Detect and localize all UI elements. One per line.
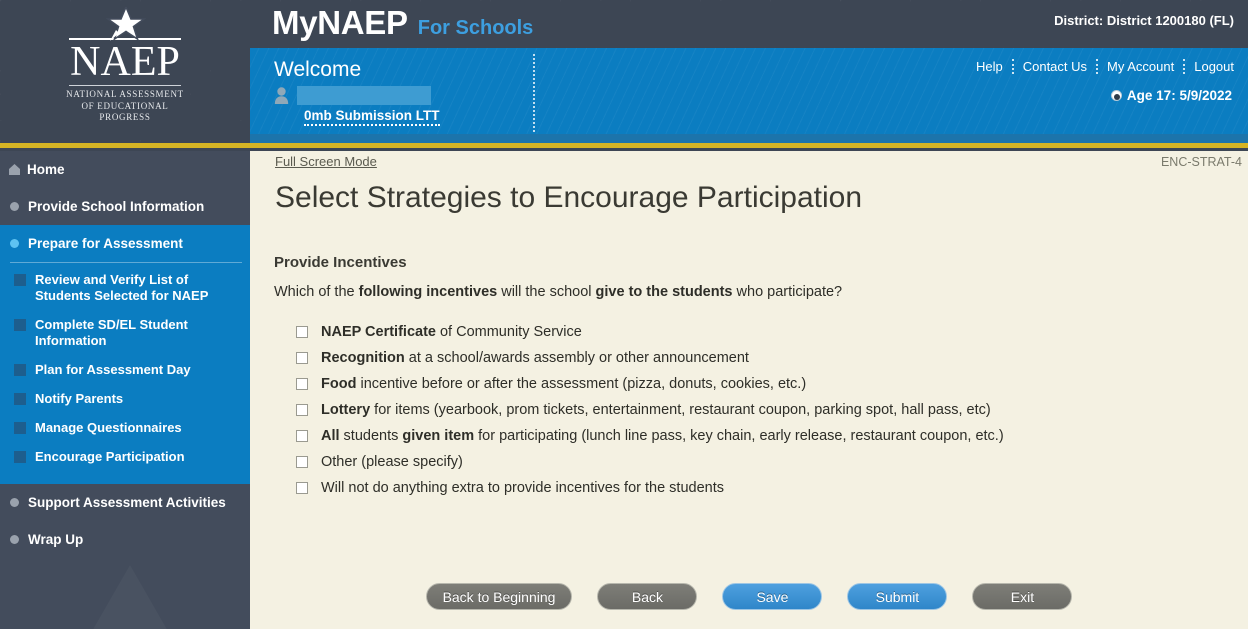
submit-button[interactable]: Submit bbox=[847, 583, 947, 610]
sidebar-item-label: Support Assessment Activities bbox=[28, 495, 226, 510]
nav-help[interactable]: Help bbox=[976, 59, 1012, 74]
square-bullet-icon bbox=[14, 422, 26, 434]
incentive-options-list: NAEP Certificate of Community Service Re… bbox=[296, 321, 1004, 503]
square-bullet-icon bbox=[14, 274, 26, 286]
option-checkbox[interactable] bbox=[296, 430, 308, 442]
sidebar-item-support-assessment-activities[interactable]: Support Assessment Activities bbox=[0, 484, 250, 521]
exit-button[interactable]: Exit bbox=[972, 583, 1072, 610]
question-text: Which of the following incentives will t… bbox=[274, 284, 842, 300]
sidebar-subitem-label: Encourage Participation bbox=[35, 449, 185, 465]
logo-wordmark: NAEP bbox=[70, 40, 180, 84]
option-food[interactable]: Food incentive before or after the asses… bbox=[296, 373, 1004, 399]
subnav-divider bbox=[10, 262, 242, 263]
sidebar-item-provide-school-information[interactable]: Provide School Information bbox=[0, 188, 250, 225]
naep-logo: NAEP NATIONAL ASSESSMENT OF EDUCATIONAL … bbox=[0, 0, 250, 143]
option-checkbox[interactable] bbox=[296, 352, 308, 364]
logo-subtitle-line1: NATIONAL ASSESSMENT bbox=[66, 89, 184, 101]
form-action-buttons: Back to Beginning Back Save Submit Exit bbox=[250, 583, 1248, 610]
home-icon bbox=[8, 163, 21, 176]
main-content: Full Screen Mode ENC-STRAT-4 Select Stra… bbox=[250, 151, 1248, 629]
question-part-3: who participate? bbox=[733, 284, 843, 300]
option-will-not-do-anything[interactable]: Will not do anything extra to provide in… bbox=[296, 477, 1004, 503]
option-checkbox[interactable] bbox=[296, 456, 308, 468]
option-label: Will not do anything extra to provide in… bbox=[321, 477, 724, 499]
sidebar-subitem-label: Plan for Assessment Day bbox=[35, 362, 191, 378]
sidebar-item-prepare-for-assessment[interactable]: Prepare for Assessment bbox=[0, 225, 250, 262]
sidebar-item-label: Home bbox=[27, 162, 65, 177]
option-rest-text: incentive before or after the assessment… bbox=[356, 376, 806, 392]
square-bullet-icon bbox=[14, 451, 26, 463]
sidebar-subnav: Review and Verify List of Students Selec… bbox=[0, 262, 250, 484]
option-checkbox[interactable] bbox=[296, 326, 308, 338]
sidebar-item-label: Prepare for Assessment bbox=[28, 236, 183, 251]
brand-title: MyNAEP For Schools bbox=[272, 4, 533, 42]
option-rest-text: of Community Service bbox=[436, 324, 582, 340]
logo-subtitle: NATIONAL ASSESSMENT OF EDUCATIONAL PROGR… bbox=[66, 89, 184, 124]
option-bold-text: Recognition bbox=[321, 350, 405, 366]
district-label: District: District 1200180 (FL) bbox=[1054, 13, 1234, 28]
option-label: NAEP Certificate of Community Service bbox=[321, 321, 582, 343]
option-mid-text: students bbox=[340, 428, 403, 444]
sidebar-item-home[interactable]: Home bbox=[0, 151, 250, 188]
sidebar-subitem-label: Review and Verify List of Students Selec… bbox=[35, 272, 236, 304]
option-rest-text: Other (please specify) bbox=[321, 454, 463, 470]
option-checkbox[interactable] bbox=[296, 404, 308, 416]
welcome-bar: Welcome 0mb Submission LTT Help Contact … bbox=[250, 48, 1248, 143]
logo-subtitle-line2: OF EDUCATIONAL bbox=[66, 101, 184, 113]
section-heading: Provide Incentives bbox=[274, 254, 407, 271]
age-selector-label: Age 17: 5/9/2022 bbox=[1127, 88, 1232, 103]
option-rest-text: for items (yearbook, prom tickets, enter… bbox=[370, 402, 991, 418]
option-checkbox[interactable] bbox=[296, 482, 308, 494]
full-screen-mode-link[interactable]: Full Screen Mode bbox=[275, 154, 377, 169]
option-label: Food incentive before or after the asses… bbox=[321, 373, 806, 395]
page-root: NAEP NATIONAL ASSESSMENT OF EDUCATIONAL … bbox=[0, 0, 1248, 629]
nav-my-account[interactable]: My Account bbox=[1098, 59, 1183, 74]
square-bullet-icon bbox=[14, 364, 26, 376]
user-row bbox=[274, 86, 431, 105]
bullet-icon bbox=[10, 498, 19, 507]
option-label: Lottery for items (yearbook, prom ticket… bbox=[321, 399, 991, 421]
sidebar-subitem-manage-questionnaires[interactable]: Manage Questionnaires bbox=[0, 420, 250, 436]
question-bold-1: following incentives bbox=[359, 284, 498, 300]
option-all-students-given-item[interactable]: All students given item for participatin… bbox=[296, 425, 1004, 451]
option-bold-text: NAEP Certificate bbox=[321, 324, 436, 340]
sidebar-subitem-label: Notify Parents bbox=[35, 391, 123, 407]
sidebar-item-wrap-up[interactable]: Wrap Up bbox=[0, 521, 250, 558]
star-icon bbox=[97, 7, 153, 41]
user-icon bbox=[274, 87, 289, 104]
welcome-bar-footer bbox=[250, 134, 1248, 143]
username-redacted-field[interactable] bbox=[297, 86, 431, 105]
sidebar-item-label: Provide School Information bbox=[28, 199, 204, 214]
nav-contact-us[interactable]: Contact Us bbox=[1014, 59, 1096, 74]
page-code-label: ENC-STRAT-4 bbox=[1161, 155, 1242, 169]
option-label: All students given item for participatin… bbox=[321, 425, 1004, 447]
page-title: Select Strategies to Encourage Participa… bbox=[275, 181, 862, 215]
radio-selected-icon[interactable] bbox=[1111, 90, 1122, 101]
option-lottery[interactable]: Lottery for items (yearbook, prom ticket… bbox=[296, 399, 1004, 425]
sidebar: Home Provide School Information Prepare … bbox=[0, 151, 250, 629]
sidebar-subitem-label: Complete SD/EL Student Information bbox=[35, 317, 236, 349]
back-to-beginning-button[interactable]: Back to Beginning bbox=[426, 583, 573, 610]
brand-sub-text: For Schools bbox=[418, 17, 534, 40]
option-rest-text: at a school/awards assembly or other ann… bbox=[405, 350, 749, 366]
question-part-1: Which of the bbox=[274, 284, 359, 300]
sidebar-subitem-review-and-verify[interactable]: Review and Verify List of Students Selec… bbox=[0, 272, 250, 304]
square-bullet-icon bbox=[14, 393, 26, 405]
back-button[interactable]: Back bbox=[597, 583, 697, 610]
question-bold-2: give to the students bbox=[596, 284, 733, 300]
user-submission-link[interactable]: 0mb Submission LTT bbox=[304, 108, 440, 126]
sidebar-subitem-notify-parents[interactable]: Notify Parents bbox=[0, 391, 250, 407]
option-rest-text: for participating (lunch line pass, key … bbox=[474, 428, 1004, 444]
header-nav-links: Help Contact Us My Account Logout bbox=[976, 59, 1234, 74]
option-bold-text-2: given item bbox=[402, 428, 474, 444]
option-label: Other (please specify) bbox=[321, 451, 463, 473]
brand-main-text: MyNAEP bbox=[272, 4, 408, 42]
welcome-divider bbox=[533, 54, 535, 136]
option-bold-text: Food bbox=[321, 376, 356, 392]
sidebar-item-label: Wrap Up bbox=[28, 532, 83, 547]
logo-rule-bottom bbox=[69, 85, 181, 86]
option-rest-text: Will not do anything extra to provide in… bbox=[321, 480, 724, 496]
sidebar-subitem-encourage-participation[interactable]: Encourage Participation bbox=[0, 449, 250, 465]
option-other[interactable]: Other (please specify) bbox=[296, 451, 1004, 477]
bullet-icon bbox=[10, 202, 19, 211]
option-naep-certificate[interactable]: NAEP Certificate of Community Service bbox=[296, 321, 1004, 347]
sidebar-subitem-complete-sd-el[interactable]: Complete SD/EL Student Information bbox=[0, 317, 250, 349]
sidebar-watermark bbox=[68, 565, 192, 629]
question-part-2: will the school bbox=[497, 284, 595, 300]
age-selector[interactable]: Age 17: 5/9/2022 bbox=[1111, 88, 1232, 103]
option-bold-text: Lottery bbox=[321, 402, 370, 418]
sidebar-subitem-plan-for-assessment-day[interactable]: Plan for Assessment Day bbox=[0, 362, 250, 378]
logo-subtitle-line3: PROGRESS bbox=[66, 112, 184, 124]
sidebar-subitem-label: Manage Questionnaires bbox=[35, 420, 182, 436]
bullet-icon bbox=[10, 239, 19, 248]
save-button[interactable]: Save bbox=[722, 583, 822, 610]
option-recognition[interactable]: Recognition at a school/awards assembly … bbox=[296, 347, 1004, 373]
square-bullet-icon bbox=[14, 319, 26, 331]
bullet-icon bbox=[10, 535, 19, 544]
option-label: Recognition at a school/awards assembly … bbox=[321, 347, 749, 369]
nav-logout[interactable]: Logout bbox=[1185, 59, 1234, 74]
option-checkbox[interactable] bbox=[296, 378, 308, 390]
welcome-title: Welcome bbox=[274, 58, 361, 82]
option-bold-text: All bbox=[321, 428, 340, 444]
